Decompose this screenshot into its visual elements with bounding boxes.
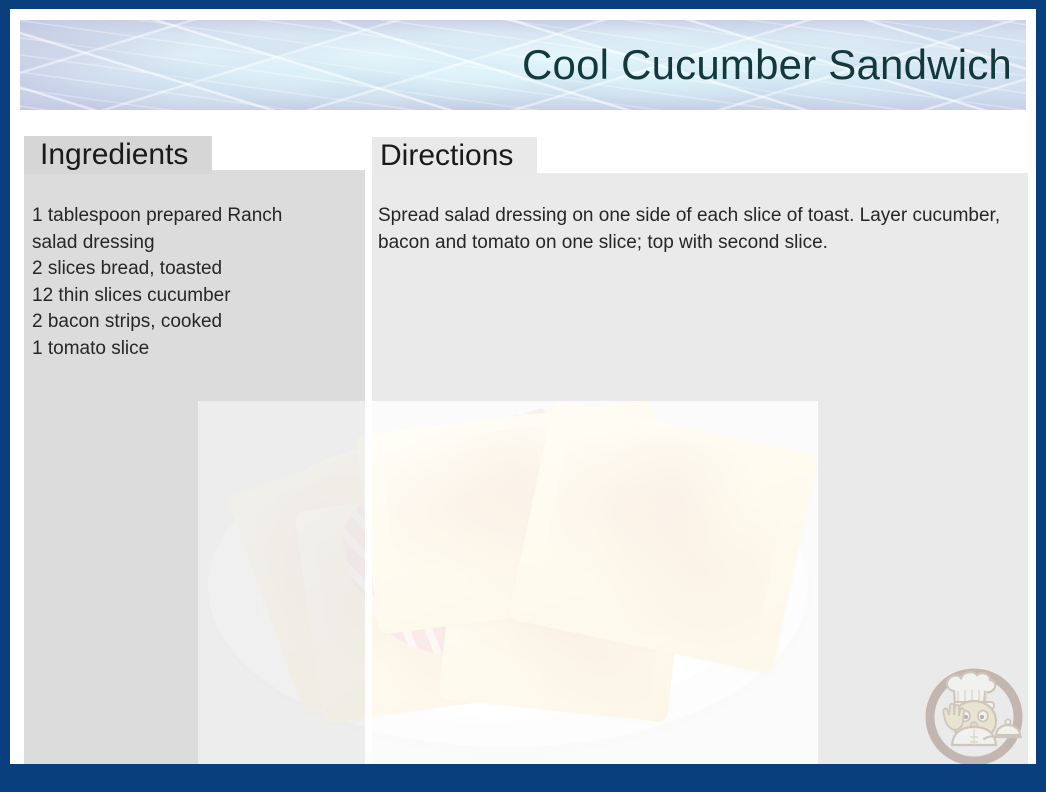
list-item: salad dressing <box>32 230 344 257</box>
ingredients-list: 1 tablespoon prepared Ranch salad dressi… <box>32 203 344 362</box>
tab-directions-label: Directions <box>380 137 513 175</box>
photo-column-gap <box>365 401 372 764</box>
tab-ingredients-label: Ingredients <box>40 136 188 174</box>
recipe-slide: Cool Cucumber Sandwich Ingredients Direc… <box>0 0 1046 792</box>
directions-text: Spread salad dressing on one side of eac… <box>378 203 1008 256</box>
list-item: 2 slices bread, toasted <box>32 256 344 283</box>
list-item: 2 bacon strips, cooked <box>32 309 344 336</box>
tab-directions[interactable]: Directions <box>372 137 537 175</box>
list-item: 12 thin slices cucumber <box>32 283 344 310</box>
page-title: Cool Cucumber Sandwich <box>522 43 1012 87</box>
tab-ingredients[interactable]: Ingredients <box>24 136 212 174</box>
slide-content-area: Cool Cucumber Sandwich Ingredients Direc… <box>10 9 1036 764</box>
list-item: 1 tomato slice <box>32 336 344 363</box>
list-item: 1 tablespoon prepared Ranch <box>32 203 344 230</box>
title-banner: Cool Cucumber Sandwich <box>20 20 1026 110</box>
directions-panel <box>372 173 1028 764</box>
